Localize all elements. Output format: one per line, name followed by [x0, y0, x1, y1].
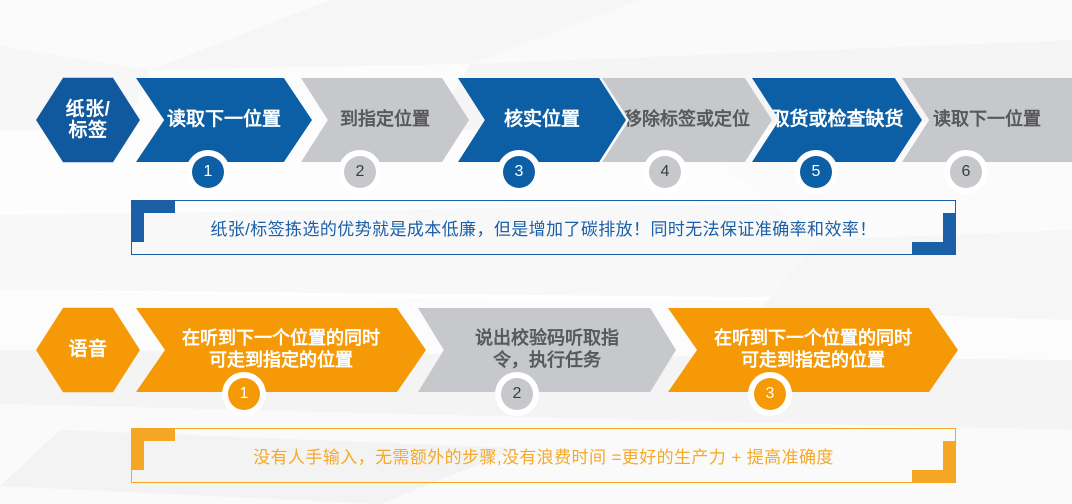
step-voice-1[interactable]: 在听到下一个位置的同时可走到指定的位置	[136, 308, 426, 392]
step-paper-2-number-wrap: 2	[338, 150, 382, 194]
step-paper-4-label: 移除标签或定位	[618, 109, 756, 131]
step-voice-2-number-wrap: 2	[495, 372, 539, 416]
step-paper-3[interactable]: 核实位置	[458, 78, 626, 162]
row-paper-badge-label: 纸张/ 标签	[66, 99, 111, 142]
step-paper-1-number-wrap: 1	[186, 150, 230, 194]
step-voice-1-number: 1	[228, 378, 260, 410]
step-paper-4-number-wrap: 4	[643, 150, 687, 194]
step-voice-3-number: 3	[754, 378, 786, 410]
badge-line-1: 纸张/	[66, 99, 111, 120]
step-voice-2-number: 2	[501, 378, 533, 410]
step-paper-4-number: 4	[649, 156, 681, 188]
callout-paper: 纸张/标签拣选的优势就是成本低廉，但是增加了碳排放！同时无法保证准确率和效率！	[131, 200, 956, 255]
step-paper-5[interactable]: 取货或检查缺货	[752, 78, 922, 162]
row-voice-badge: 语音	[36, 306, 140, 394]
step-voice-3[interactable]: 在听到下一个位置的同时可走到指定的位置	[668, 308, 958, 392]
step-paper-3-number-wrap: 3	[497, 150, 541, 194]
step-voice-3-label: 在听到下一个位置的同时可走到指定的位置	[700, 328, 927, 371]
row-paper-badge: 纸张/ 标签	[36, 76, 140, 164]
step-paper-5-label: 取货或检查缺货	[764, 109, 909, 132]
step-voice-1-number-wrap: 1	[222, 372, 266, 416]
step-paper-1[interactable]: 读取下一位置	[136, 78, 312, 162]
step-paper-2[interactable]: 到指定位置	[301, 78, 469, 162]
step-paper-4[interactable]: 移除标签或定位	[602, 78, 772, 162]
step-paper-1-label: 读取下一位置	[161, 109, 287, 132]
step-voice-2-label: 说出校验码听取指令，执行任务	[461, 328, 633, 371]
callout-voice: 没有人手输入，无需额外的步骤,没有浪费时间 =更好的生产力 + 提高准确度	[131, 428, 956, 483]
step-paper-3-label: 核实位置	[498, 109, 586, 132]
row-voice-badge-label: 语音	[68, 339, 107, 360]
callout-voice-text: 没有人手输入，无需额外的步骤,没有浪费时间 =更好的生产力 + 提高准确度	[131, 428, 956, 483]
step-voice-2[interactable]: 说出校验码听取指令，执行任务	[418, 308, 676, 392]
step-voice-3-number-wrap: 3	[748, 372, 792, 416]
step-paper-1-number: 1	[192, 156, 224, 188]
step-paper-5-number-wrap: 5	[794, 150, 838, 194]
step-paper-6-number: 6	[950, 156, 982, 188]
badge-line-2: 标签	[68, 120, 107, 141]
step-paper-2-label: 到指定位置	[334, 109, 436, 131]
step-paper-6[interactable]: 读取下一位置	[902, 78, 1072, 162]
callout-paper-text: 纸张/标签拣选的优势就是成本低廉，但是增加了碳排放！同时无法保证准确率和效率！	[131, 200, 956, 255]
step-paper-2-number: 2	[344, 156, 376, 188]
step-voice-1-label: 在听到下一个位置的同时可走到指定的位置	[168, 328, 395, 371]
step-paper-6-number-wrap: 6	[944, 150, 988, 194]
step-paper-3-number: 3	[503, 156, 535, 188]
step-paper-6-label: 读取下一位置	[927, 109, 1047, 131]
step-paper-5-number: 5	[800, 156, 832, 188]
